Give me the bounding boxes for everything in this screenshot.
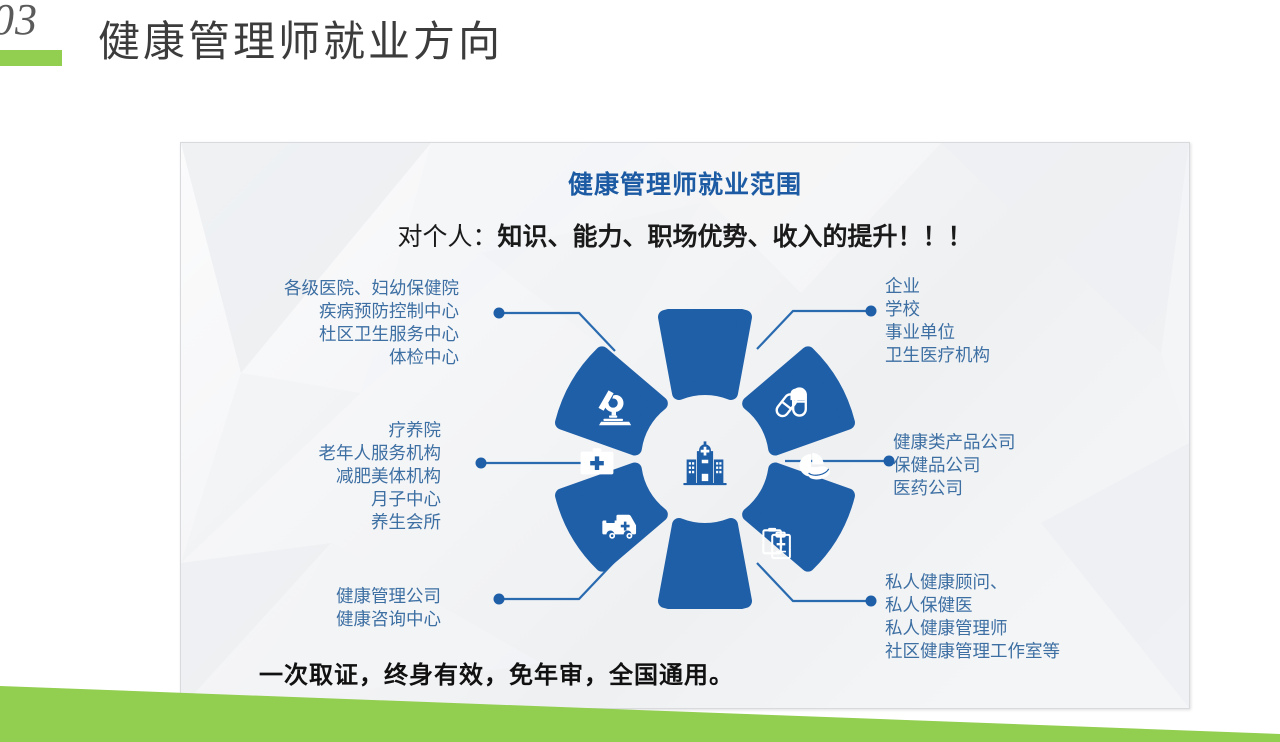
callout-line: 卫生医疗机构 — [885, 344, 990, 367]
callout-line: 事业单位 — [885, 321, 990, 344]
callout-bottom-right: 私人健康顾问、 私人保健医 私人健康管理师 社区健康管理工作室等 — [885, 571, 1060, 663]
image-footer-text: 一次取证，终身有效，免年审，全国通用。 — [259, 655, 734, 690]
image-title: 健康管理师就业范围 — [181, 165, 1189, 201]
callout-line: 疗养院 — [319, 419, 442, 442]
page-title: 健康管理师就业方向 — [98, 8, 503, 69]
callout-top-left: 各级医院、妇幼保健院 疾病预防控制中心 杜区卫生服务中心 体检中心 — [284, 277, 459, 369]
callout-line: 健康管理公司 — [336, 585, 441, 608]
callout-top-right: 企业 学校 事业单位 卫生医疗机构 — [885, 275, 990, 367]
image-subtitle: 对个人：知识、能力、职场优势、收入的提升！！！ — [181, 217, 1189, 253]
callout-line: 养生会所 — [319, 511, 442, 534]
wheel-segment-capsules — [665, 311, 745, 393]
hospital-building-icon — [683, 441, 726, 485]
image-subtitle-lead: 对个人： — [397, 223, 497, 251]
slide-header: 03 健康管理师就业方向 — [0, 0, 1280, 110]
wheel-segment-ambulance — [665, 525, 745, 607]
callout-line: 月子中心 — [319, 488, 442, 511]
callout-bottom-left: 健康管理公司 健康咨询中心 — [336, 585, 441, 631]
callout-line: 健康类产品公司 — [893, 431, 1016, 454]
callout-line: 健康咨询中心 — [336, 608, 441, 631]
callout-line: 杜区卫生服务中心 — [284, 323, 459, 346]
employment-scope-wheel — [555, 309, 855, 609]
content-image: 健康管理师就业范围 对个人：知识、能力、职场优势、收入的提升！！！ 各级医院、妇… — [180, 142, 1190, 709]
callout-line: 社区健康管理工作室等 — [885, 640, 1060, 663]
callout-line: 医药公司 — [893, 477, 1016, 500]
wheel-segment-clipboard — [742, 457, 853, 567]
callout-line: 私人保健医 — [885, 594, 1060, 617]
first-aid-kit-icon — [581, 448, 614, 474]
wheel-segment-pills — [742, 351, 853, 461]
image-subtitle-strong: 知识、能力、职场优势、收入的提升！！！ — [498, 223, 973, 251]
callout-line: 老年人服务机构 — [319, 442, 442, 465]
wheel-segment-microscope — [557, 351, 668, 461]
callout-mid-left: 疗养院 老年人服务机构 减肥美体机构 月子中心 养生会所 — [319, 419, 442, 534]
callout-line: 企业 — [885, 275, 990, 298]
callout-line: 学校 — [885, 298, 990, 321]
callout-line: 私人健康顾问、 — [885, 571, 1060, 594]
callout-line: 私人健康管理师 — [885, 617, 1060, 640]
callout-line: 体检中心 — [284, 346, 459, 369]
callout-line: 各级医院、妇幼保健院 — [284, 277, 459, 300]
callout-line: 保健品公司 — [893, 454, 1016, 477]
callout-mid-right: 健康类产品公司 保健品公司 医药公司 — [893, 431, 1016, 500]
section-number: 03 — [0, 0, 38, 42]
section-number-underline — [0, 50, 62, 66]
callout-line: 减肥美体机构 — [319, 465, 442, 488]
callout-line: 疾病预防控制中心 — [284, 300, 459, 323]
